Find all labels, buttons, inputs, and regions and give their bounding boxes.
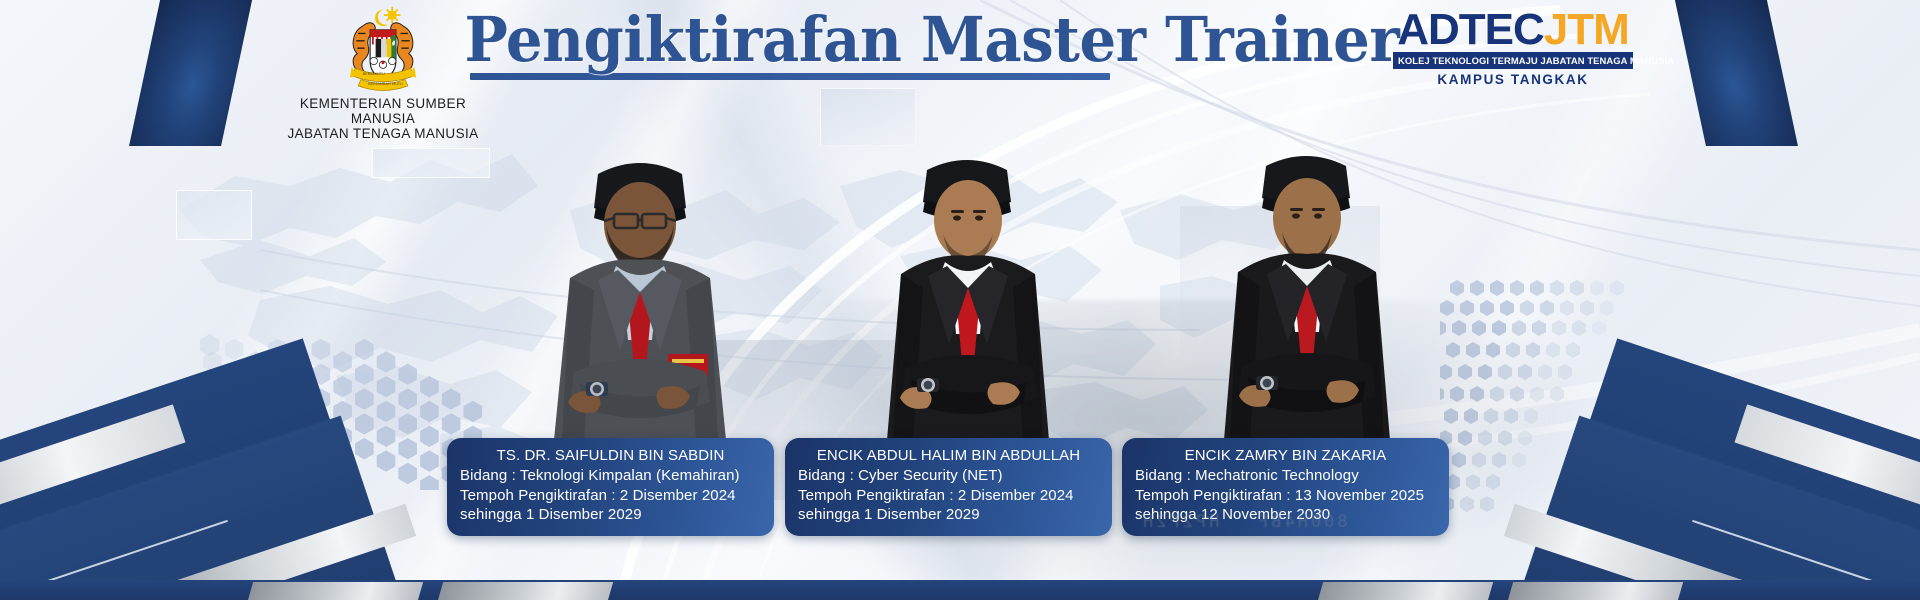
decor-bottom-slab-2 bbox=[437, 582, 613, 600]
trainer-name: ENCIK ABDUL HALIM BIN ABDULLAH bbox=[798, 447, 1099, 466]
trainer-cards: TS. DR. SAIFULDIN BIN SABDIN Bidang : Te… bbox=[0, 0, 1920, 600]
background-text-artefact-1: HP2F2H bbox=[1140, 512, 1219, 532]
trainer-name: ENCIK ZAMRY BIN ZAKARIA bbox=[1135, 447, 1436, 466]
decor-bottom-slab-1 bbox=[247, 582, 423, 600]
trainer-period-until: sehingga 1 Disember 2029 bbox=[798, 505, 1099, 525]
trainer-period: Tempoh Pengiktirafan : 2 Disember 2024 bbox=[460, 486, 761, 506]
decor-bottom-slab-4 bbox=[1507, 582, 1683, 600]
trainer-period: Tempoh Pengiktirafan : 13 November 2025 bbox=[1135, 486, 1436, 506]
trainer-field: Bidang : Mechatronic Technology bbox=[1135, 466, 1436, 486]
trainer-card[interactable]: ENCIK ABDUL HALIM BIN ABDULLAH Bidang : … bbox=[785, 438, 1112, 536]
trainer-field: Bidang : Teknologi Kimpalan (Kemahiran) bbox=[460, 466, 761, 486]
trainer-card[interactable]: TS. DR. SAIFULDIN BIN SABDIN Bidang : Te… bbox=[447, 438, 774, 536]
trainer-period: Tempoh Pengiktirafan : 2 Disember 2024 bbox=[798, 486, 1099, 506]
trainer-field: Bidang : Cyber Security (NET) bbox=[798, 466, 1099, 486]
decor-bottom-slab-3 bbox=[1317, 582, 1493, 600]
trainer-period-until: sehingga 1 Disember 2029 bbox=[460, 505, 761, 525]
banner-root: BERSEKUTU BERTAMBAH MUTU KEMENTERIAN SUM… bbox=[0, 0, 1920, 600]
trainer-name: TS. DR. SAIFULDIN BIN SABDIN bbox=[460, 447, 761, 466]
background-text-artefact-2: 800H4BF bbox=[1255, 512, 1348, 532]
